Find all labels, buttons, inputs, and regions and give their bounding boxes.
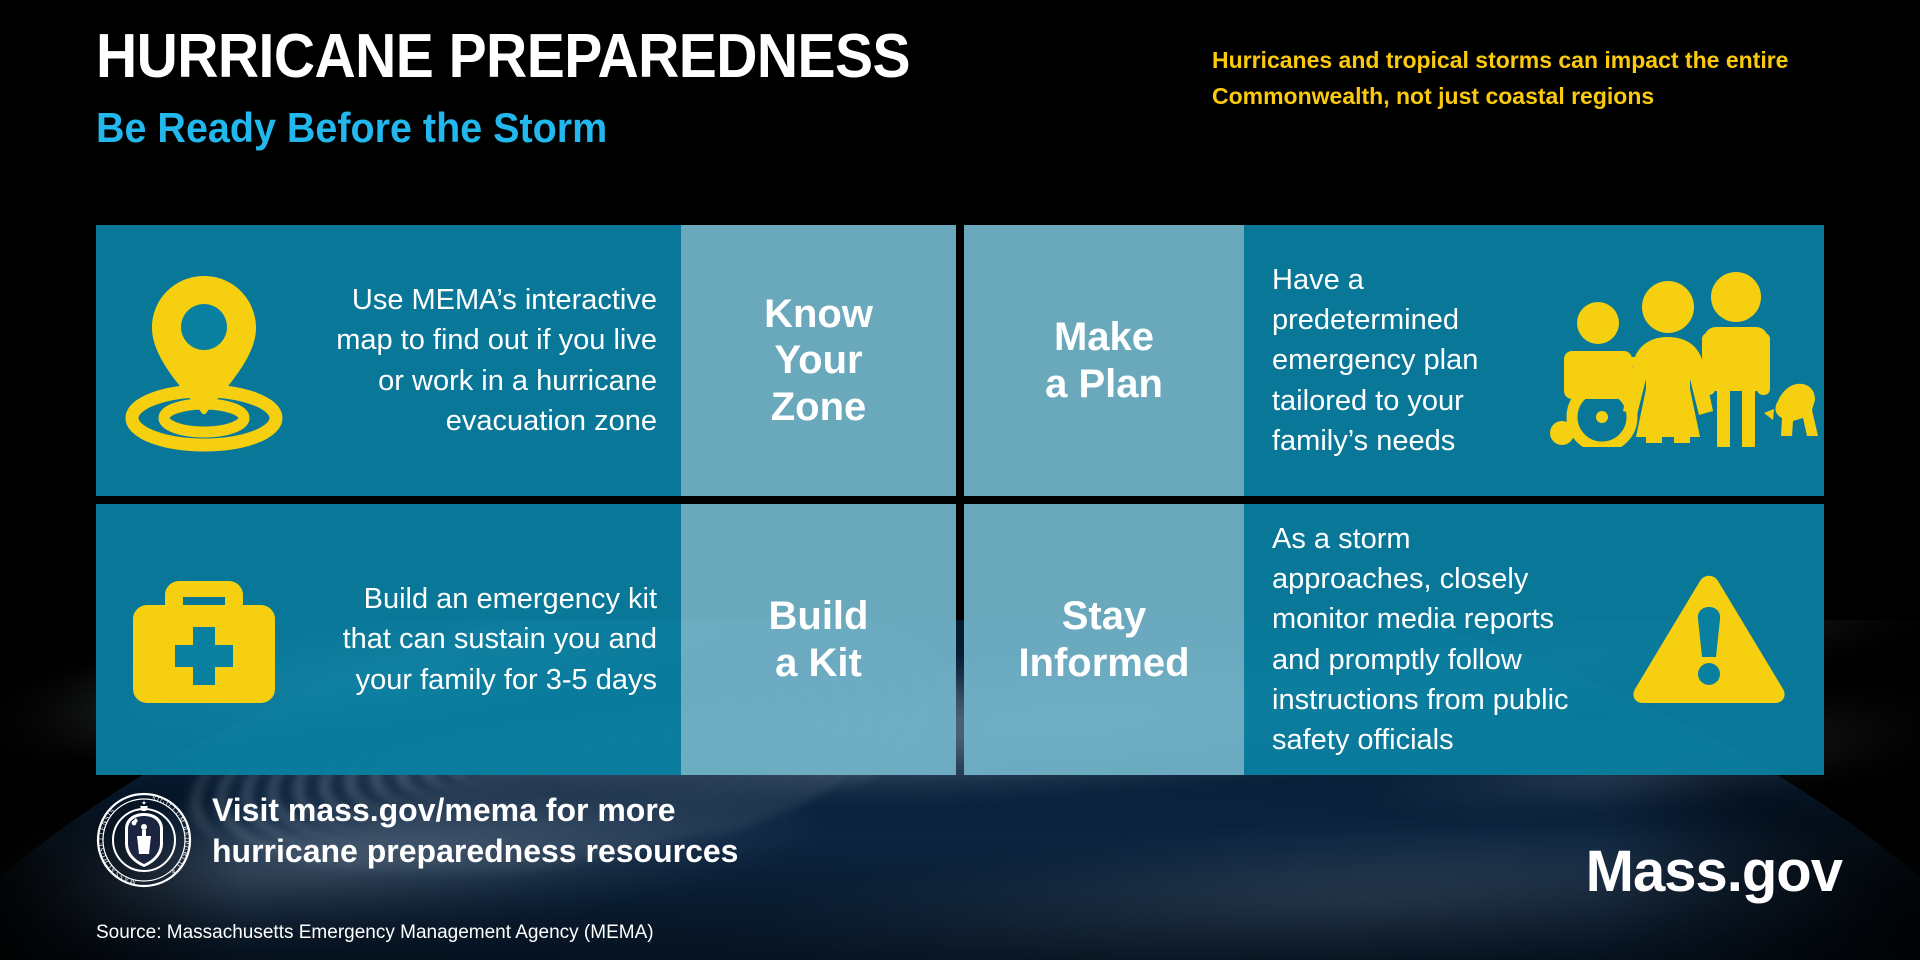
card-description: Have a predetermined emergency plan tail… (1244, 260, 1544, 460)
card-body: Use MEMA’s interactive map to find out i… (96, 225, 681, 496)
card-stay-informed: Stay Informed As a storm approaches, clo… (964, 504, 1824, 775)
tips-grid: Use MEMA’s interactive map to find out i… (96, 225, 1824, 775)
card-body: As a storm approaches, closely monitor m… (1244, 504, 1824, 775)
family-group-icon (1544, 271, 1824, 451)
card-body: Have a predetermined emergency plan tail… (1244, 225, 1824, 496)
card-description: As a storm approaches, closely monitor m… (1244, 519, 1594, 759)
card-label: Make a Plan (1035, 314, 1173, 407)
card-label: Stay Informed (1008, 593, 1199, 686)
card-label: Build a Kit (759, 593, 879, 686)
map-pin-zone-icon (96, 268, 311, 453)
card-make-a-plan: Make a Plan Have a predetermined emergen… (964, 225, 1824, 496)
mass-gov-logo: Mass.gov (1586, 838, 1842, 905)
card-description: Use MEMA’s interactive map to find out i… (311, 280, 681, 440)
card-description: Build an emergency kit that can sustain … (311, 579, 681, 699)
card-label: Know Your Zone (754, 291, 883, 430)
footer-cta-text: Visit mass.gov/mema for more hurricane p… (212, 790, 738, 872)
warning-triangle-icon (1594, 569, 1824, 711)
card-label-pane: Make a Plan (964, 225, 1244, 496)
footer: ·◆· SIGILLUM REIPUBLICÆ MASSACHUSETTENSI… (96, 790, 738, 888)
card-label-pane: Build a Kit (681, 504, 956, 775)
source-attribution: Source: Massachusetts Emergency Manageme… (96, 922, 654, 944)
header: HURRICANE PREPAREDNESS Be Ready Before t… (96, 24, 981, 151)
card-know-your-zone: Use MEMA’s interactive map to find out i… (96, 225, 956, 496)
massachusetts-state-seal-icon: ·◆· SIGILLUM REIPUBLICÆ MASSACHUSETTENSI… (96, 792, 192, 888)
callout-text: Hurricanes and tropical storms can impac… (1212, 42, 1832, 115)
infographic-root: HURRICANE PREPAREDNESS Be Ready Before t… (0, 0, 1920, 960)
page-subtitle: Be Ready Before the Storm (96, 105, 928, 151)
card-body: Build an emergency kit that can sustain … (96, 504, 681, 775)
first-aid-kit-icon (96, 565, 311, 715)
page-title: HURRICANE PREPAREDNESS (96, 24, 910, 91)
card-build-a-kit: Build an emergency kit that can sustain … (96, 504, 956, 775)
card-label-pane: Know Your Zone (681, 225, 956, 496)
card-label-pane: Stay Informed (964, 504, 1244, 775)
svg-text:·◆·: ·◆· (141, 800, 147, 805)
